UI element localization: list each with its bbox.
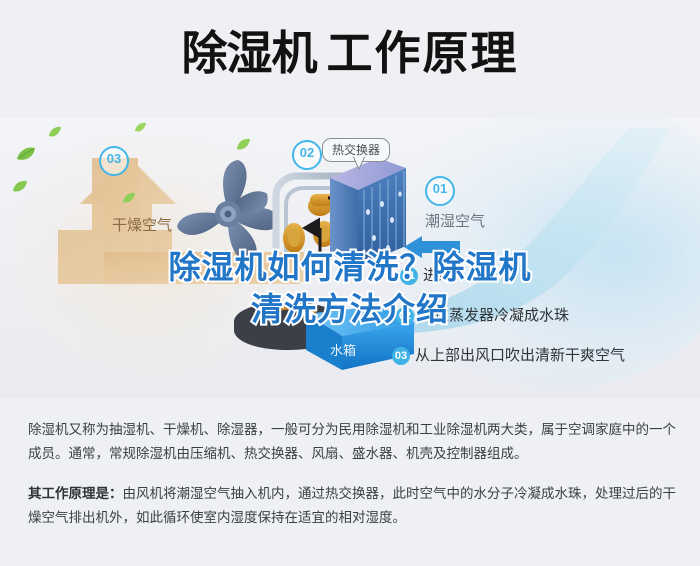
diagram-step-3: 03从上部出风口吹出清新干爽空气: [392, 344, 625, 365]
article-paragraph-2-rest: 由风机将潮湿空气抽入机内，通过热交换器，此时空气中的水分子冷凝成水珠，处理过后的…: [28, 486, 676, 525]
label-dry-air: 干燥空气: [112, 214, 172, 235]
diagram-badge-01: 01: [425, 176, 455, 206]
heat-exchanger-icon: [318, 154, 408, 274]
diagram-badge-03: 03: [99, 146, 129, 176]
principle-diagram: 03 02 01 热交换器 干燥空气 潮湿空气 水箱 01进风 02经过蒸发器冷…: [0, 118, 700, 398]
article-paragraph-2-lead: 其工作原理是：: [28, 486, 123, 501]
leaf-icon: [48, 126, 62, 138]
step-2-badge: 02: [396, 307, 414, 325]
leaf-icon: [12, 180, 28, 193]
leaf-icon: [236, 138, 251, 151]
article-paragraph-1: 除湿机又称为抽湿机、干燥机、除湿器，一般可分为民用除湿机和工业除湿机两大类，属于…: [28, 418, 676, 466]
leaf-icon: [134, 122, 147, 133]
step-1-badge: 01: [400, 267, 418, 285]
diagram-step-2: 02经过蒸发器冷凝成水珠: [396, 304, 569, 325]
callout-pointer-icon: [352, 156, 366, 170]
article-body: 除湿机又称为抽湿机、干燥机、除湿器，一般可分为民用除湿机和工业除湿机两大类，属于…: [28, 418, 676, 530]
step-2-text: 经过蒸发器冷凝成水珠: [419, 307, 569, 324]
article-paragraph-2: 其工作原理是：由风机将潮湿空气抽入机内，通过热交换器，此时空气中的水分子冷凝成水…: [28, 482, 676, 530]
diagram-step-1: 01进风: [400, 264, 453, 285]
leaf-icon: [16, 146, 36, 162]
step-3-text: 从上部出风口吹出清新干爽空气: [415, 347, 625, 364]
diagram-badge-02: 02: [292, 140, 322, 170]
label-humid-air: 潮湿空气: [425, 210, 485, 231]
page-title: 除湿机工作原理: [0, 28, 700, 79]
label-water-tank: 水箱: [330, 340, 356, 359]
leaf-icon: [122, 192, 136, 204]
air-intake-arrow-icon: [404, 236, 460, 258]
page-root: 除湿机工作原理: [0, 0, 700, 566]
page-title-part1: 除湿机: [182, 27, 317, 79]
step-3-badge: 03: [392, 347, 410, 365]
page-title-part2: 工作原理: [327, 27, 519, 79]
unit-base-icon: [228, 296, 418, 376]
step-1-text: 进风: [423, 267, 453, 284]
